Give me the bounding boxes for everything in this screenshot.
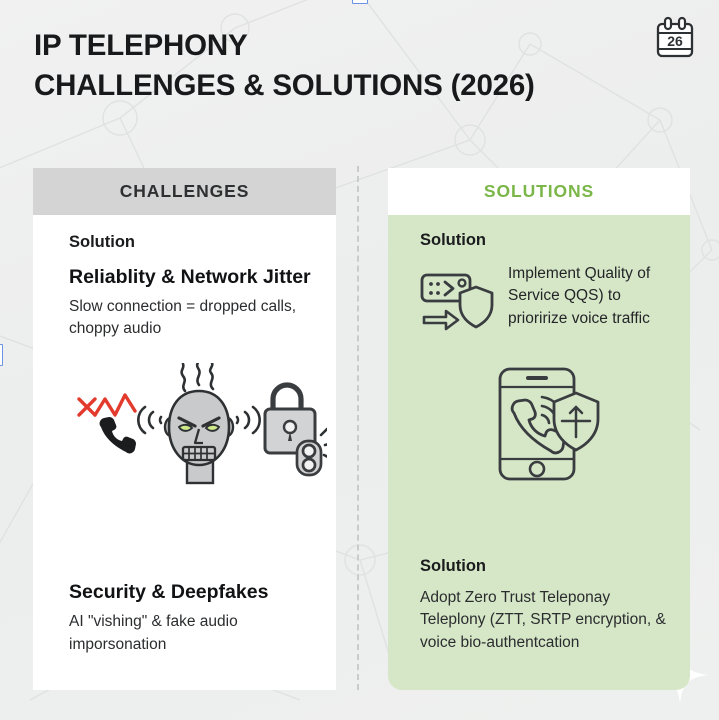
calendar-icon: 26 xyxy=(653,16,697,62)
column-divider xyxy=(357,166,359,690)
slide-canvas[interactable]: IP TELEPHONY CHALLENGES & SOLUTIONS (202… xyxy=(0,0,719,720)
dropped-call-deepfake-breach-illustration xyxy=(75,363,327,485)
solutions-card[interactable]: SOLUTIONS Solution xyxy=(388,168,690,690)
solutions-bottom-body: Adopt Zero Trust Teleponay Teleplony (ZT… xyxy=(420,587,668,654)
solutions-top-block: Solution xyxy=(420,231,668,331)
page-title: IP TELEPHONY CHALLENGES & SOLUTIONS (202… xyxy=(34,26,535,106)
challenges-bottom-block: Security & Deepfakes AI "vishing" & fake… xyxy=(69,580,314,690)
challenges-body: Solution Reliablity & Network Jitter Slo… xyxy=(33,215,336,690)
challenges-top-body: Slow connection = dropped calls, choppy … xyxy=(69,296,314,341)
solutions-bottom-eyebrow: Solution xyxy=(420,557,668,576)
solutions-top-body: Implement Quality of Service QQS) to pri… xyxy=(508,263,668,330)
solutions-body: Solution xyxy=(388,215,690,690)
selection-handle-top[interactable] xyxy=(352,0,368,4)
challenges-top-eyebrow: Solution xyxy=(69,233,314,252)
challenges-top-block: Solution Reliablity & Network Jitter Slo… xyxy=(69,233,314,341)
solutions-top-lockup: Implement Quality of Service QQS) to pri… xyxy=(420,263,668,331)
open-padlock-broken-link-icon xyxy=(265,385,327,475)
challenges-bottom-body: AI "vishing" & fake audio imporsonation xyxy=(69,611,314,656)
challenges-header: CHALLENGES xyxy=(33,168,336,215)
router-shield-arrow-icon xyxy=(420,269,496,331)
challenges-top-heading: Reliablity & Network Jitter xyxy=(69,265,314,290)
selection-handle-left[interactable] xyxy=(0,344,3,366)
challenges-bottom-heading: Security & Deepfakes xyxy=(69,580,314,605)
angry-face-icon xyxy=(165,363,233,483)
challenges-spacer xyxy=(69,485,314,581)
solutions-bottom-block: Solution Adopt Zero Trust Teleponay Tele… xyxy=(420,557,668,690)
challenges-card[interactable]: CHALLENGES Solution Reliablity & Network… xyxy=(33,168,336,690)
red-x-zigzag-phone-icon xyxy=(79,395,136,453)
challenges-header-label: CHALLENGES xyxy=(120,181,250,202)
title-line-2: CHALLENGES & SOLUTIONS (2026) xyxy=(34,66,535,106)
sound-wave-right-icon xyxy=(237,407,260,433)
solutions-header-label: SOLUTIONS xyxy=(484,181,594,202)
sound-wave-left-icon xyxy=(138,407,161,433)
solutions-spacer xyxy=(420,483,668,557)
secure-mobile-call-illustration xyxy=(484,365,604,483)
solutions-header: SOLUTIONS xyxy=(388,168,690,215)
solutions-top-eyebrow: Solution xyxy=(420,231,668,250)
title-line-1: IP TELEPHONY xyxy=(34,26,535,66)
calendar-day-label: 26 xyxy=(667,33,683,49)
